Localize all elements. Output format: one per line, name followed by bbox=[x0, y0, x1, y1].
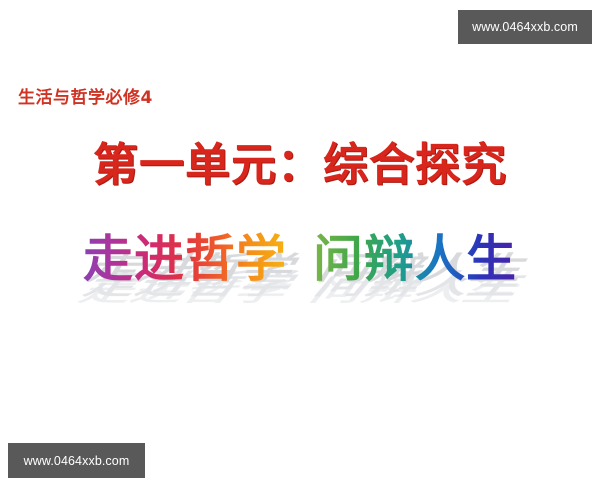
slide-canvas: www.0464xxb.com 生活与哲学必修4 第一单元：综合探究 走进哲学 … bbox=[0, 0, 600, 480]
course-label: 生活与哲学必修4 bbox=[18, 83, 153, 108]
wordart-left-text: 走进哲学 bbox=[83, 230, 287, 288]
watermark-badge-top-right: www.0464xxb.com bbox=[458, 10, 592, 44]
wordart-band: 走进哲学 走进哲学 走进哲学 走进哲学 问辩人生 问辩人生 问辩人生 问辩人生 bbox=[0, 234, 600, 314]
wordart-phrase-left: 走进哲学 走进哲学 走进哲学 走进哲学 bbox=[83, 234, 287, 284]
page-title: 第一单元：综合探究 bbox=[0, 128, 600, 193]
wordart-phrase-right: 问辩人生 问辩人生 问辩人生 问辩人生 bbox=[313, 234, 517, 284]
watermark-bottom-text: www.0464xxb.com bbox=[24, 454, 130, 468]
watermark-top-text: www.0464xxb.com bbox=[472, 20, 578, 34]
wordart-right-text: 问辩人生 bbox=[313, 230, 517, 288]
watermark-badge-bottom-left: www.0464xxb.com bbox=[8, 443, 145, 478]
